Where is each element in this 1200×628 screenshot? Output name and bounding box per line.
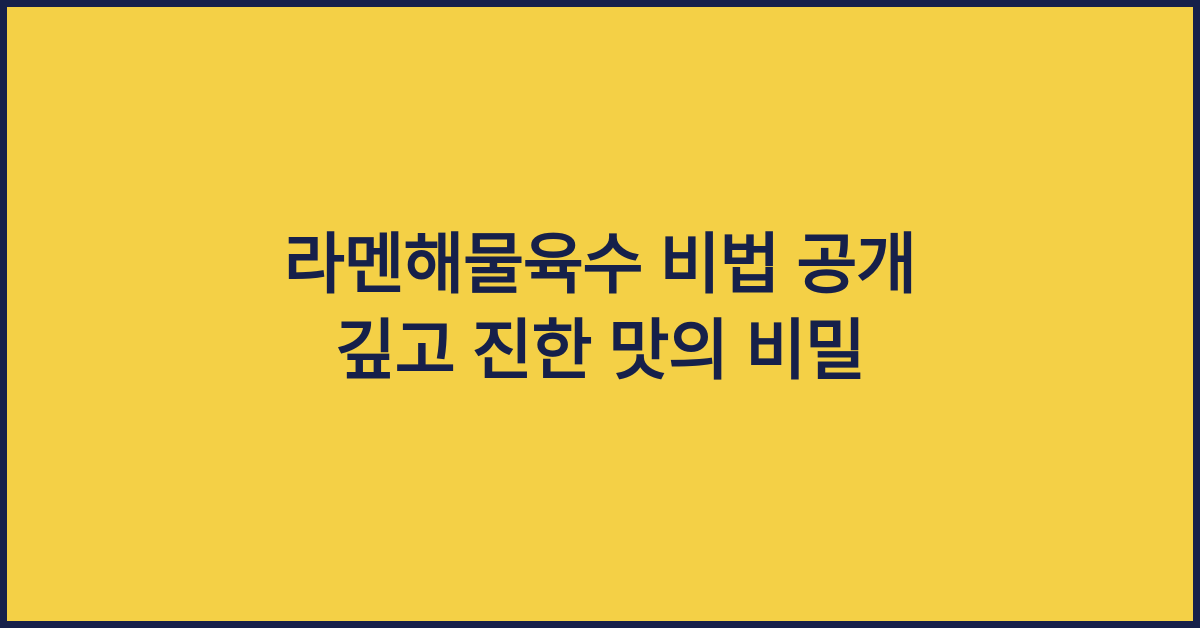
headline-line-1: 라멘해물육수 비법 공개 [47, 221, 1153, 307]
headline-block: 라멘해물육수 비법 공개 깊고 진한 맛의 비밀 [7, 221, 1193, 393]
headline-line-2: 깊고 진한 맛의 비밀 [47, 307, 1153, 393]
banner-card: 라멘해물육수 비법 공개 깊고 진한 맛의 비밀 [0, 0, 1200, 628]
